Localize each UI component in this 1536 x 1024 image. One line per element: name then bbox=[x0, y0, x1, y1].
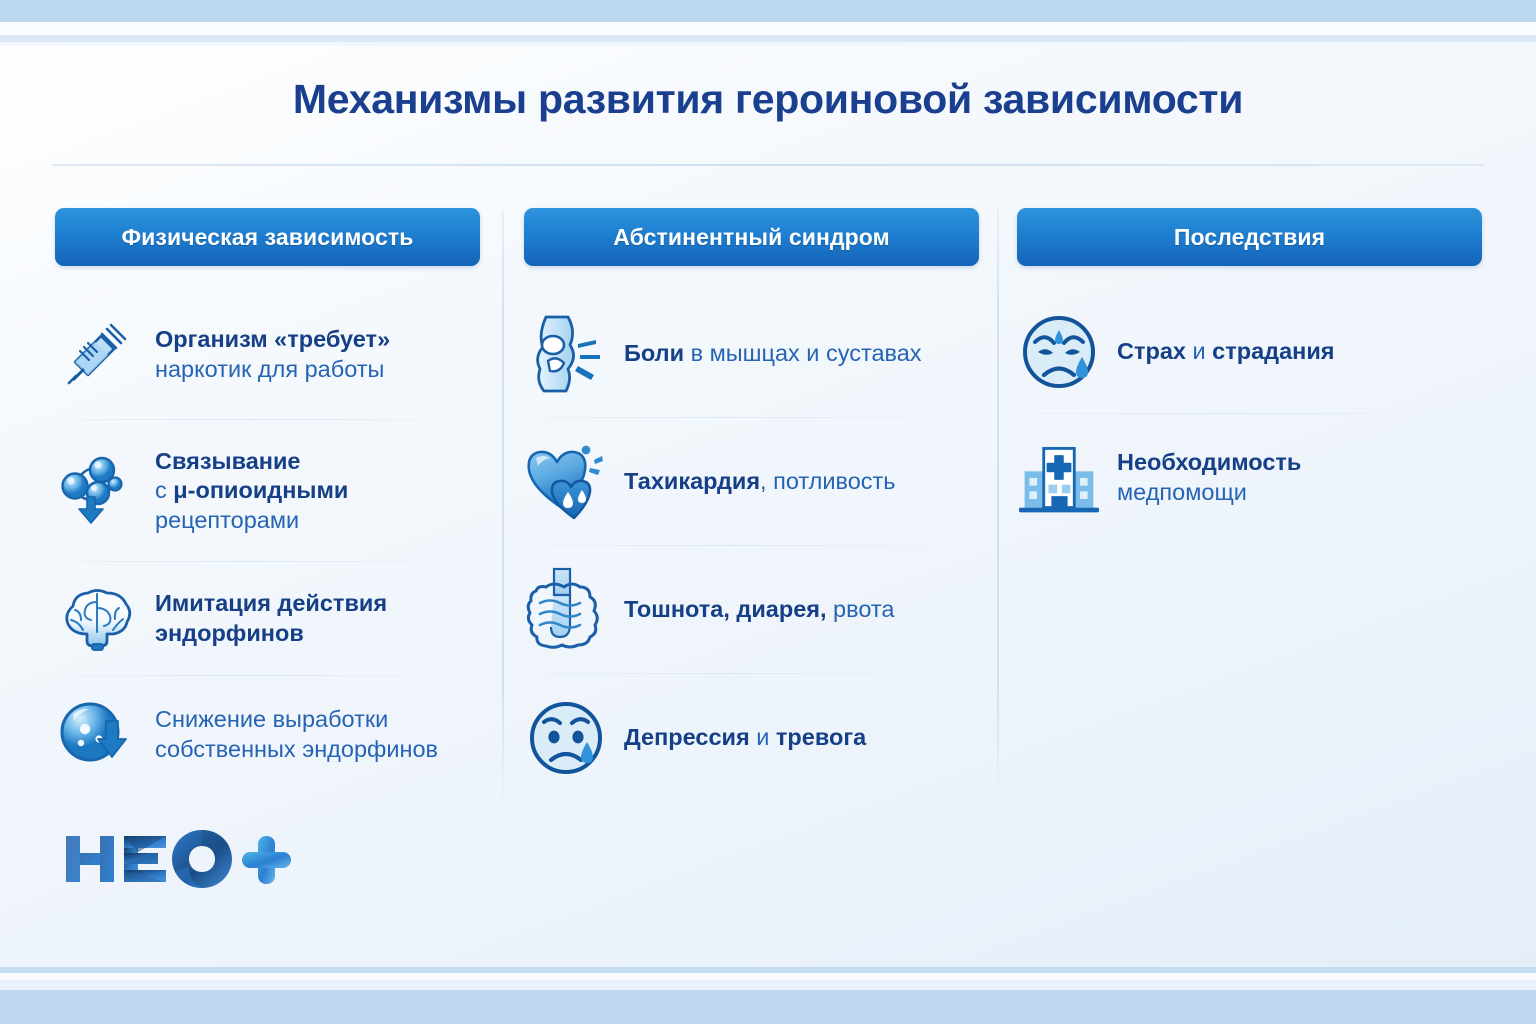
item-text-regular: и bbox=[1186, 338, 1212, 364]
list-item[interactable]: Связывание с μ-опиоидными рецепторами bbox=[55, 420, 480, 562]
item-text-regular: наркотик для работы bbox=[155, 356, 384, 382]
bottom-band-white bbox=[0, 973, 1536, 980]
molecule-decrease-icon bbox=[55, 693, 139, 777]
item-text-bold: Страх bbox=[1117, 338, 1186, 364]
title-divider bbox=[52, 164, 1484, 166]
brand-logo bbox=[62, 824, 302, 894]
list-item[interactable]: Боли в мышцах и суставах bbox=[524, 290, 977, 418]
items-physical-dependence: Организм «требует» наркотик для работы bbox=[55, 290, 480, 794]
infographic-poster: Механизмы развития героиновой зависимост… bbox=[0, 0, 1536, 1024]
item-text-regular-2: собственных эндорфинов bbox=[155, 736, 438, 762]
list-item-label: Тахикардия, потливость bbox=[624, 467, 896, 497]
molecule-receptor-icon bbox=[55, 449, 139, 533]
top-band-primary bbox=[0, 0, 1536, 22]
brain-icon bbox=[55, 577, 139, 661]
bottom-band-primary bbox=[0, 990, 1536, 1024]
syringe-icon bbox=[55, 313, 139, 397]
list-item[interactable]: Страх и страдания bbox=[1017, 290, 1481, 414]
bottom-band-fade bbox=[0, 980, 1536, 990]
list-item-label: Снижение выработки собственных эндорфино… bbox=[155, 705, 438, 764]
item-text-regular: с bbox=[155, 477, 173, 503]
item-text-regular: и bbox=[750, 724, 776, 750]
list-item[interactable]: Необходимость медпомощи bbox=[1017, 414, 1481, 542]
top-band-white bbox=[0, 22, 1536, 35]
list-item[interactable]: Тахикардия, потливость bbox=[524, 418, 977, 546]
columns-container: Физическая зависимость bbox=[0, 208, 1536, 828]
item-text-bold: Организм «требует» bbox=[155, 326, 390, 352]
item-text-regular: в мышцах и суставах bbox=[684, 340, 922, 366]
list-item-label: Связывание с μ-опиоидными рецепторами bbox=[155, 447, 348, 536]
top-band-accent bbox=[0, 35, 1536, 42]
item-text-bold: Связывание bbox=[155, 448, 301, 474]
item-text-regular: , потливость bbox=[760, 468, 895, 494]
item-text-bold-2: страдания bbox=[1212, 338, 1334, 364]
column-consequences: Последствия bbox=[997, 208, 1536, 828]
hospital-icon bbox=[1017, 436, 1101, 520]
item-text-bold-2: тревога bbox=[776, 724, 866, 750]
intestine-icon bbox=[524, 568, 608, 652]
list-item[interactable]: Депрессия и тревога bbox=[524, 674, 977, 802]
column-header-consequences: Последствия bbox=[1017, 208, 1482, 266]
list-item-label: Боли в мышцах и суставах bbox=[624, 339, 922, 369]
top-band-fade bbox=[0, 42, 1536, 46]
list-item-label: Депрессия и тревога bbox=[624, 723, 866, 753]
items-withdrawal-syndrome: Боли в мышцах и суставах bbox=[524, 290, 977, 802]
item-text-bold: Боли bbox=[624, 340, 684, 366]
column-physical-dependence: Физическая зависимость bbox=[0, 208, 502, 828]
heart-sweat-icon bbox=[524, 440, 608, 524]
column-withdrawal-syndrome: Абстинентный синдром bbox=[502, 208, 997, 828]
sad-face-tear-icon bbox=[524, 696, 608, 780]
list-item-label: Необходимость медпомощи bbox=[1117, 448, 1301, 507]
item-text-bold: Тошнота, диарея, bbox=[624, 596, 827, 622]
list-item[interactable]: Организм «требует» наркотик для работы bbox=[55, 290, 480, 420]
item-text-regular: рвота bbox=[827, 596, 895, 622]
list-item-label: Тошнота, диарея, рвота bbox=[624, 595, 894, 625]
list-item-label: Имитация действия эндорфинов bbox=[155, 589, 387, 648]
item-text-regular: Снижение выработки bbox=[155, 706, 388, 732]
worried-face-tear-icon bbox=[1017, 310, 1101, 394]
page-title: Механизмы развития героиновой зависимост… bbox=[0, 76, 1536, 123]
item-text-bold-2: эндорфинов bbox=[155, 620, 304, 646]
item-text-bold: Имитация действия bbox=[155, 590, 387, 616]
list-item[interactable]: Снижение выработки собственных эндорфино… bbox=[55, 676, 480, 794]
item-text-bold: Тахикардия bbox=[624, 468, 760, 494]
list-item-label: Организм «требует» наркотик для работы bbox=[155, 325, 390, 384]
column-header-withdrawal-syndrome: Абстинентный синдром bbox=[524, 208, 979, 266]
list-item[interactable]: Тошнота, диарея, рвота bbox=[524, 546, 977, 674]
item-text-bold-2: μ-опиоидными bbox=[173, 477, 348, 503]
item-text-bold: Депрессия bbox=[624, 724, 750, 750]
list-item-label: Страх и страдания bbox=[1117, 337, 1335, 367]
knee-joint-pain-icon bbox=[524, 312, 608, 396]
item-text-bold: Необходимость bbox=[1117, 449, 1301, 475]
items-consequences: Страх и страдания bbox=[1017, 290, 1481, 542]
item-text-regular-2: рецепторами bbox=[155, 507, 299, 533]
column-header-physical-dependence: Физическая зависимость bbox=[55, 208, 480, 266]
list-item[interactable]: Имитация действия эндорфинов bbox=[55, 562, 480, 676]
item-text-regular: медпомощи bbox=[1117, 479, 1247, 505]
